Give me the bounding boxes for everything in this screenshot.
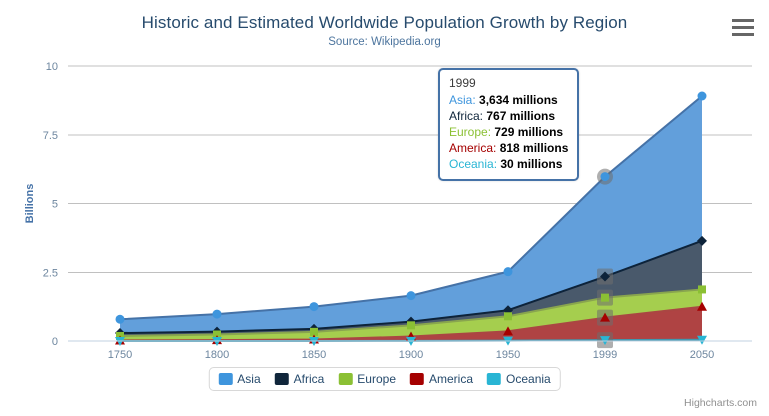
data-point-europe-1999[interactable] xyxy=(597,290,613,306)
data-point-europe-2050[interactable] xyxy=(698,285,706,293)
legend-item-america[interactable]: America xyxy=(410,372,473,386)
legend-swatch-oceania xyxy=(487,373,501,385)
y-axis-tick-label: 0 xyxy=(52,336,58,348)
tooltip-series-value: 818 millions xyxy=(500,141,569,155)
x-axis-tick-label: 1850 xyxy=(302,349,326,361)
legend-label-africa: Africa xyxy=(294,372,325,386)
legend-label-america: America xyxy=(429,372,473,386)
tooltip-row: Europe: 729 millions xyxy=(449,124,568,140)
tooltip-series-value: 30 millions xyxy=(500,157,562,171)
data-point-asia-1750[interactable] xyxy=(116,315,125,324)
tooltip-series-name: America: xyxy=(449,141,500,155)
y-axis-tick-label: 5 xyxy=(52,199,58,211)
legend-label-asia: Asia xyxy=(237,372,260,386)
chart-legend: Asia Africa Europe America Oceania xyxy=(208,367,560,391)
data-point-asia-1999[interactable] xyxy=(597,169,613,185)
tooltip-series-name: Africa: xyxy=(449,109,486,123)
legend-item-africa[interactable]: Africa xyxy=(275,372,325,386)
tooltip-series-name: Europe: xyxy=(449,125,494,139)
data-point-oceania-1999[interactable] xyxy=(597,332,613,348)
tooltip-series-value: 729 millions xyxy=(494,125,563,139)
tooltip-header: 1999 xyxy=(449,76,568,90)
x-axis-tick-label: 1900 xyxy=(399,349,423,361)
data-point-africa-1999[interactable] xyxy=(597,269,613,285)
data-point-asia-2050[interactable] xyxy=(698,92,707,101)
x-axis-tick-label: 2050 xyxy=(690,349,714,361)
y-axis-tick-label: 10 xyxy=(46,61,58,73)
y-axis-tick-label: 2.5 xyxy=(43,267,58,279)
highcharts-container: Historic and Estimated Worldwide Populat… xyxy=(0,0,769,416)
tooltip-row: Oceania: 30 millions xyxy=(449,156,568,172)
legend-item-oceania[interactable]: Oceania xyxy=(487,372,551,386)
chart-tooltip: 1999 Asia: 3,634 millionsAfrica: 767 mil… xyxy=(438,68,579,181)
y-axis-tick-label: 7.5 xyxy=(43,130,58,142)
tooltip-series-value: 767 millions xyxy=(486,109,555,123)
tooltip-series-name: Oceania: xyxy=(449,157,500,171)
y-axis-title: Billions xyxy=(24,184,36,224)
tooltip-rows: Asia: 3,634 millionsAfrica: 767 millions… xyxy=(449,92,568,172)
tooltip-row: America: 818 millions xyxy=(449,140,568,156)
legend-swatch-africa xyxy=(275,373,289,385)
data-point-asia-1950[interactable] xyxy=(504,267,513,276)
tooltip-series-value: 3,634 millions xyxy=(479,93,558,107)
data-point-asia-1850[interactable] xyxy=(310,302,319,311)
tooltip-row: Asia: 3,634 millions xyxy=(449,92,568,108)
x-axis-tick-label: 1800 xyxy=(205,349,229,361)
chart-plot-area[interactable]: 02.557.510Billions1750180018501900195019… xyxy=(0,0,769,416)
tooltip-series-name: Asia: xyxy=(449,93,479,107)
chart-credits[interactable]: Highcharts.com xyxy=(684,397,757,409)
data-point-europe-1950[interactable] xyxy=(504,312,512,320)
tooltip-row: Africa: 767 millions xyxy=(449,108,568,124)
legend-item-asia[interactable]: Asia xyxy=(218,372,260,386)
x-axis-tick-label: 1999 xyxy=(593,349,617,361)
data-point-america-1999[interactable] xyxy=(597,310,613,326)
data-point-europe-1900[interactable] xyxy=(407,321,415,329)
legend-item-europe[interactable]: Europe xyxy=(338,372,396,386)
legend-label-europe: Europe xyxy=(357,372,396,386)
legend-label-oceania: Oceania xyxy=(506,372,551,386)
x-axis-tick-label: 1950 xyxy=(496,349,520,361)
legend-swatch-asia xyxy=(218,373,232,385)
data-point-asia-1800[interactable] xyxy=(213,310,222,319)
x-axis-tick-label: 1750 xyxy=(108,349,132,361)
legend-swatch-america xyxy=(410,373,424,385)
data-point-asia-1900[interactable] xyxy=(407,291,416,300)
legend-swatch-europe xyxy=(338,373,352,385)
